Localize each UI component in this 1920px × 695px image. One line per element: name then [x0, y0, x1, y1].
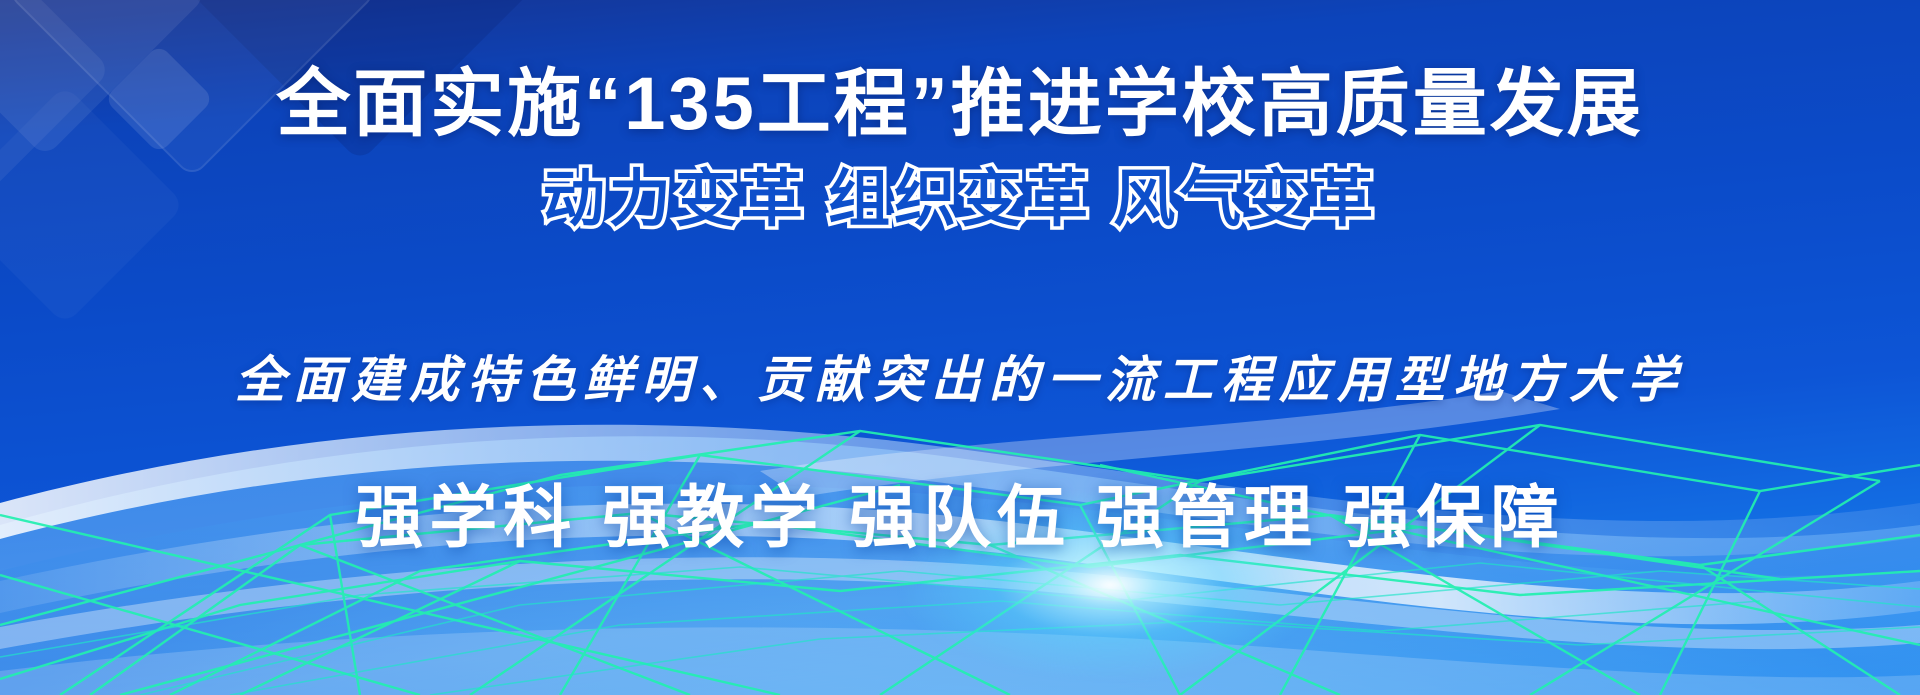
banner-subhead-outlined: 动力变革 组织变革 风气变革	[0, 148, 1920, 238]
banner-text-block: 全面实施“135工程”推进学校高质量发展 动力变革 组织变革 风气变革 全面建成…	[0, 0, 1920, 695]
banner-headline: 全面实施“135工程”推进学校高质量发展	[0, 44, 1920, 151]
banner-vision-statement: 全面建成特色鲜明、贡献突出的一流工程应用型地方大学	[0, 340, 1920, 412]
banner-slogan-row: 强学科 强教学 强队伍 强管理 强保障	[0, 462, 1920, 561]
campus-slogan-banner: 全面实施“135工程”推进学校高质量发展 动力变革 组织变革 风气变革 全面建成…	[0, 0, 1920, 695]
